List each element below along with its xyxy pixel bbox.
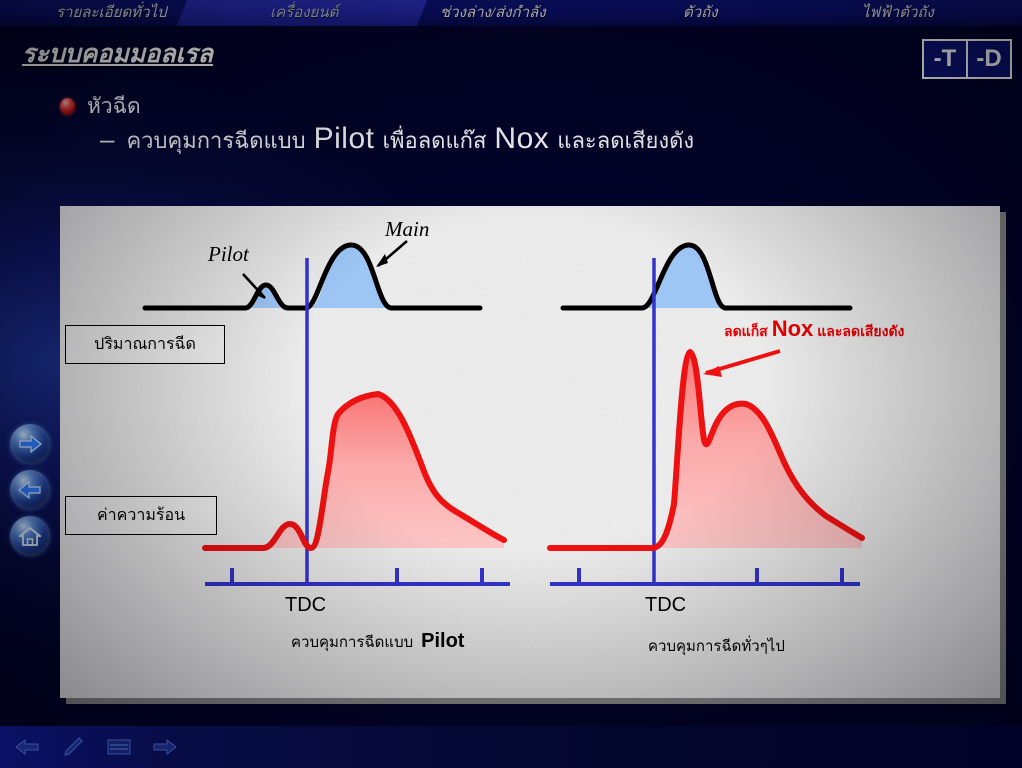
caption-left-pre: ควบคุมการฉีดแบบ (291, 634, 413, 651)
bullet2-pilot: Pilot (314, 122, 375, 155)
tab-body[interactable]: ตัวถัง (683, 0, 718, 26)
td-button-group: -T -D (922, 39, 1012, 79)
slides-icon (107, 738, 131, 756)
left-chart-graphics (60, 206, 530, 698)
chart-panel: ปริมาณการฉีด ค่าความร้อน Pilot Main ลดแก… (60, 206, 1000, 698)
bullet2-nox: Nox (494, 122, 549, 155)
main-annotation: Main (385, 217, 429, 242)
injection-quantity-label-box: ปริมาณการฉีด (65, 325, 225, 364)
chart-contents: ปริมาณการฉีด ค่าความร้อน Pilot Main ลดแก… (60, 206, 1000, 698)
injection-curve-left (145, 245, 480, 308)
presentation-window: รายละเอียดทั่วไป เครื่องยนต์ ช่วงล่าง/ส่… (0, 0, 1022, 768)
arrow-left-icon (15, 739, 39, 755)
arrow-left-icon (18, 481, 42, 499)
nox-annotation-word: Nox (772, 316, 814, 341)
tab-general-info[interactable]: รายละเอียดทั่วไป (56, 0, 167, 26)
tab-chassis-drivetrain[interactable]: ช่วงล่าง/ส่งกำลัง (440, 0, 546, 26)
arrow-right-icon (153, 739, 177, 755)
tdc-label-left: TDC (285, 594, 326, 617)
page-title: ระบบคอมมอลเรล (22, 34, 213, 74)
home-icon (19, 526, 41, 546)
toolbar-next-button[interactable] (152, 736, 178, 758)
top-tab-bar: รายละเอียดทั่วไป เครื่องยนต์ ช่วงล่าง/ส่… (0, 0, 1022, 26)
heat-value-label: ค่าความร้อน (97, 503, 185, 528)
nox-annotation-post: และลดเสียงดัง (817, 323, 904, 339)
main-arrowhead-left (376, 254, 388, 267)
tab-engine[interactable]: เครื่องยนต์ (270, 0, 338, 26)
bullet2-mid: เพื่อลดแก๊ส (382, 128, 486, 153)
bullet-level2: – ควบคุมการฉีดแบบPilotเพื่อลดแก๊สNoxและล… (100, 122, 694, 158)
bullet-level2-label: ควบคุมการฉีดแบบPilotเพื่อลดแก๊สNoxและลดเ… (126, 122, 694, 158)
heat-curve-fill-left (205, 396, 504, 548)
toolbar-previous-button[interactable] (14, 736, 40, 758)
toolbar-slides-button[interactable] (106, 736, 132, 758)
arrow-right-icon (18, 435, 42, 453)
injection-quantity-label: ปริมาณการฉีด (94, 332, 196, 357)
pilot-annotation: Pilot (208, 242, 249, 267)
tab-body-electrical[interactable]: ไฟฟ้าตัวถัง (862, 0, 934, 26)
nav-back-button[interactable] (10, 470, 50, 510)
caption-right: ควบคุมการฉีดทั่วๆไป (648, 634, 785, 658)
heat-curve-fill-right (550, 354, 862, 548)
nav-forward-button[interactable] (10, 424, 50, 464)
nav-home-button[interactable] (10, 516, 50, 556)
minus-t-button[interactable]: -T (924, 41, 966, 77)
caption-left: ควบคุมการฉีดแบบPilot (291, 630, 464, 654)
title-row: ระบบคอมมอลเรล (0, 28, 1022, 83)
pencil-icon (62, 736, 84, 758)
heat-value-label-box: ค่าความร้อน (65, 496, 217, 535)
right-chart-graphics (530, 206, 1000, 698)
tdc-label-right: TDC (645, 594, 686, 617)
dash-icon: – (100, 126, 114, 152)
sphere-bullet-icon (60, 98, 75, 115)
bullet-level1-label: หัวฉีด (87, 90, 141, 123)
nox-annotation-pre: ลดแก็ส (724, 323, 768, 339)
caption-left-bold: Pilot (421, 630, 464, 652)
bullet2-pre: ควบคุมการฉีดแบบ (126, 128, 305, 153)
minus-d-button[interactable]: -D (966, 41, 1010, 77)
toolbar-annotate-button[interactable] (60, 736, 86, 758)
bullet-level1: หัวฉีด (60, 90, 141, 123)
nox-annotation: ลดแก็สNoxและลดเสียงดัง (724, 316, 904, 343)
bullet2-post: และลดเสียงดัง (557, 128, 694, 153)
bottom-toolbar (0, 726, 1022, 768)
